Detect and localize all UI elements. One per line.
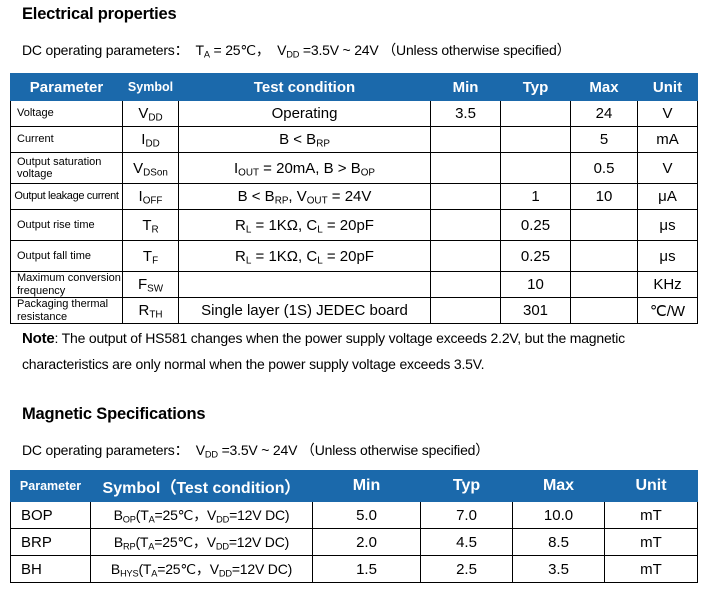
cell-unit: μs xyxy=(638,210,698,241)
note-label: Note xyxy=(22,330,55,347)
column-header-test-condition: Test condition xyxy=(179,74,431,101)
cell-unit: mA xyxy=(638,127,698,153)
cell-typ: 301 xyxy=(501,298,571,324)
column-header-symbol: Symbol xyxy=(123,74,179,101)
cell-test-condition: RL = 1KΩ, CL = 20pF xyxy=(179,210,431,241)
column-header-parameter: Parameter xyxy=(11,74,123,101)
cell-max xyxy=(571,298,638,324)
cell-parameter: BH xyxy=(11,556,91,583)
magnetic-specifications-table: Parameter Symbol（Test condition） Min Typ… xyxy=(10,470,698,583)
cell-min: 5.0 xyxy=(313,502,421,529)
ta-symbol: TA xyxy=(196,42,210,58)
cell-unit: KHz xyxy=(638,272,698,298)
cell-min xyxy=(431,241,501,272)
column-header-min: Min xyxy=(313,471,421,502)
cell-test-condition: RL = 1KΩ, CL = 20pF xyxy=(179,241,431,272)
cell-unit: mT xyxy=(605,556,698,583)
table-row: Packaging thermal resistance RTH Single … xyxy=(11,298,698,324)
vdd-value: =3.5V ~ 24V xyxy=(218,442,297,458)
table-row: BRP BRP(TA=25℃，VDD=12V DC) 2.0 4.5 8.5 m… xyxy=(11,529,698,556)
cell-test-condition: Single layer (1S) JEDEC board xyxy=(179,298,431,324)
column-header-symbol-test-condition: Symbol（Test condition） xyxy=(91,471,313,502)
cell-max: 10.0 xyxy=(513,502,605,529)
cell-typ xyxy=(501,153,571,184)
table-row: Maximum conversion frequency FSW 10 KHz xyxy=(11,272,698,298)
column-header-max: Max xyxy=(513,471,605,502)
cell-max xyxy=(571,210,638,241)
column-header-min: Min xyxy=(431,74,501,101)
cell-symbol: TR xyxy=(123,210,179,241)
cell-typ: 0.25 xyxy=(501,241,571,272)
column-header-unit: Unit xyxy=(638,74,698,101)
cell-max: 10 xyxy=(571,184,638,210)
cell-unit: ℃/W xyxy=(638,298,698,324)
cell-parameter: Packaging thermal resistance xyxy=(11,298,123,324)
cell-parameter: Output fall time xyxy=(11,241,123,272)
cell-parameter: Output leakage current xyxy=(11,184,123,210)
table-row: Output fall time TF RL = 1KΩ, CL = 20pF … xyxy=(11,241,698,272)
cell-test-condition xyxy=(179,272,431,298)
column-header-typ: Typ xyxy=(501,74,571,101)
cell-min: 1.5 xyxy=(313,556,421,583)
cell-typ xyxy=(501,101,571,127)
cell-symbol: TF xyxy=(123,241,179,272)
cell-unit: V xyxy=(638,153,698,184)
section-heading-magnetic-specifications: Magnetic Specifications xyxy=(22,405,205,424)
cell-max: 5 xyxy=(571,127,638,153)
cell-symbol-test-condition: BRP(TA=25℃，VDD=12V DC) xyxy=(91,529,313,556)
cell-test-condition: Operating xyxy=(179,101,431,127)
cell-unit: mT xyxy=(605,502,698,529)
datasheet-page: Electrical properties DC operating param… xyxy=(0,0,706,589)
cell-symbol-test-condition: BOP(TA=25℃，VDD=12V DC) xyxy=(91,502,313,529)
cell-unit: μs xyxy=(638,241,698,272)
table-row: BOP BOP(TA=25℃，VDD=12V DC) 5.0 7.0 10.0 … xyxy=(11,502,698,529)
magnetic-operating-conditions-line: DC operating parameters： VDD =3.5V ~ 24V… xyxy=(22,440,489,460)
cell-max xyxy=(571,241,638,272)
cell-min xyxy=(431,298,501,324)
cell-max: 3.5 xyxy=(513,556,605,583)
cell-typ xyxy=(501,127,571,153)
note-paragraph: Note: The output of HS581 changes when t… xyxy=(22,326,688,377)
cell-parameter: Maximum conversion frequency xyxy=(11,272,123,298)
cell-symbol-test-condition: BHYS(TA=25℃，VDD=12V DC) xyxy=(91,556,313,583)
cell-typ: 1 xyxy=(501,184,571,210)
cell-symbol: VDD xyxy=(123,101,179,127)
table-row: Output rise time TR RL = 1KΩ, CL = 20pF … xyxy=(11,210,698,241)
cell-unit: mT xyxy=(605,529,698,556)
intro-tail-text: （Unless otherwise specified） xyxy=(382,42,570,58)
cell-unit: μA xyxy=(638,184,698,210)
cell-unit: V xyxy=(638,101,698,127)
column-header-max: Max xyxy=(571,74,638,101)
intro-tail-text: （Unless otherwise specified） xyxy=(301,442,489,458)
cell-parameter: Output rise time xyxy=(11,210,123,241)
cell-parameter: Output saturation voltage xyxy=(11,153,123,184)
cell-min xyxy=(431,127,501,153)
vdd-symbol: VDD xyxy=(196,442,218,458)
ta-value: = 25℃， xyxy=(210,42,270,58)
cell-typ: 10 xyxy=(501,272,571,298)
column-header-parameter: Parameter xyxy=(11,471,91,502)
table-row: Current IDD B < BRP 5 mA xyxy=(11,127,698,153)
cell-max: 8.5 xyxy=(513,529,605,556)
column-header-typ: Typ xyxy=(421,471,513,502)
section-heading-electrical-properties: Electrical properties xyxy=(22,5,176,24)
table-row: Output saturation voltage VDSon IOUT = 2… xyxy=(11,153,698,184)
cell-symbol: IDD xyxy=(123,127,179,153)
cell-typ: 4.5 xyxy=(421,529,513,556)
cell-test-condition: B < BRP xyxy=(179,127,431,153)
cell-typ: 0.25 xyxy=(501,210,571,241)
cell-parameter: Voltage xyxy=(11,101,123,127)
cell-max xyxy=(571,272,638,298)
cell-min xyxy=(431,272,501,298)
table-header-row: Parameter Symbol（Test condition） Min Typ… xyxy=(11,471,698,502)
electrical-operating-conditions-line: DC operating parameters： TA = 25℃， VDD =… xyxy=(22,40,570,60)
cell-symbol: RTH xyxy=(123,298,179,324)
intro-lead-text: DC operating parameters： xyxy=(22,442,188,458)
cell-test-condition: IOUT = 20mA, B > BOP xyxy=(179,153,431,184)
cell-symbol: IOFF xyxy=(123,184,179,210)
table-row: Voltage VDD Operating 3.5 24 V xyxy=(11,101,698,127)
cell-parameter: BRP xyxy=(11,529,91,556)
table-row: Output leakage current IOFF B < BRP, VOU… xyxy=(11,184,698,210)
cell-min xyxy=(431,153,501,184)
cell-symbol: FSW xyxy=(123,272,179,298)
cell-parameter: BOP xyxy=(11,502,91,529)
note-text: : The output of HS581 changes when the p… xyxy=(22,330,625,372)
cell-min xyxy=(431,184,501,210)
cell-min: 2.0 xyxy=(313,529,421,556)
intro-lead-text: DC operating parameters： xyxy=(22,42,188,58)
cell-min xyxy=(431,210,501,241)
cell-typ: 2.5 xyxy=(421,556,513,583)
electrical-properties-table: Parameter Symbol Test condition Min Typ … xyxy=(10,73,698,324)
column-header-unit: Unit xyxy=(605,471,698,502)
cell-parameter: Current xyxy=(11,127,123,153)
cell-symbol: VDSon xyxy=(123,153,179,184)
table-header-row: Parameter Symbol Test condition Min Typ … xyxy=(11,74,698,101)
cell-typ: 7.0 xyxy=(421,502,513,529)
table-row: BH BHYS(TA=25℃，VDD=12V DC) 1.5 2.5 3.5 m… xyxy=(11,556,698,583)
cell-test-condition: B < BRP, VOUT = 24V xyxy=(179,184,431,210)
vdd-symbol: VDD xyxy=(277,42,299,58)
vdd-value: =3.5V ~ 24V xyxy=(299,42,378,58)
cell-max: 0.5 xyxy=(571,153,638,184)
cell-max: 24 xyxy=(571,101,638,127)
cell-min: 3.5 xyxy=(431,101,501,127)
